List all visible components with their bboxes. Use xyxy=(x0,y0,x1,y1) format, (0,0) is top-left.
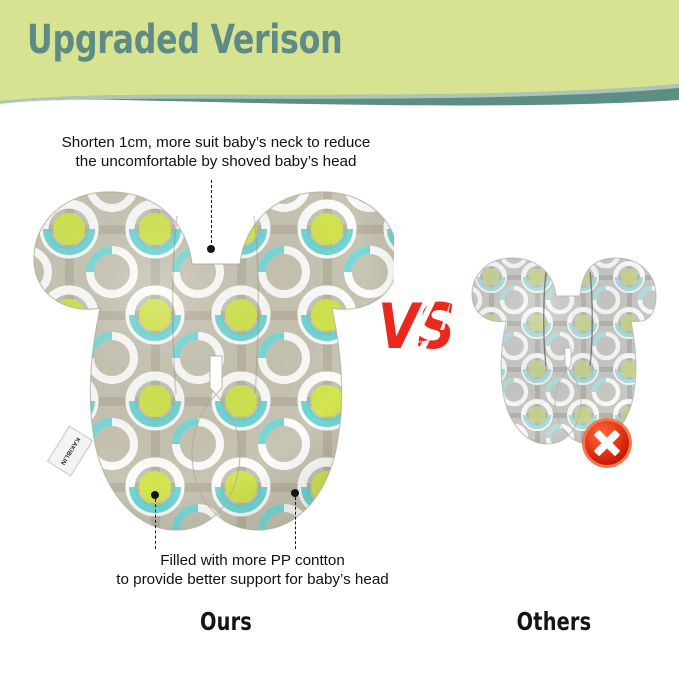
caption-others: Others xyxy=(485,607,623,636)
brand-tag-label: KAKIBLIN xyxy=(59,436,81,466)
lightning-bolt-icon xyxy=(378,292,470,388)
annotation-top-text: Shorten 1cm, more suit baby’s neck to re… xyxy=(22,133,410,172)
page-title: Upgraded Verison xyxy=(27,20,342,60)
vs-badge: VS xyxy=(378,292,470,388)
caption-ours: Ours xyxy=(157,607,295,636)
leader-dot-bottom-left xyxy=(151,491,159,499)
header-banner: Upgraded Verison xyxy=(0,0,679,112)
leader-line-bottom-left xyxy=(155,499,156,549)
annotation-bottom-text: Filled with more PP contton to provide b… xyxy=(80,551,425,590)
product-image-ours xyxy=(26,186,394,542)
leader-dot-bottom-right xyxy=(291,489,299,497)
comparison-infographic: Upgraded Verison Shorten 1cm, more suit … xyxy=(0,0,679,679)
leader-line-bottom-right xyxy=(295,497,296,549)
reject-badge xyxy=(581,417,633,469)
